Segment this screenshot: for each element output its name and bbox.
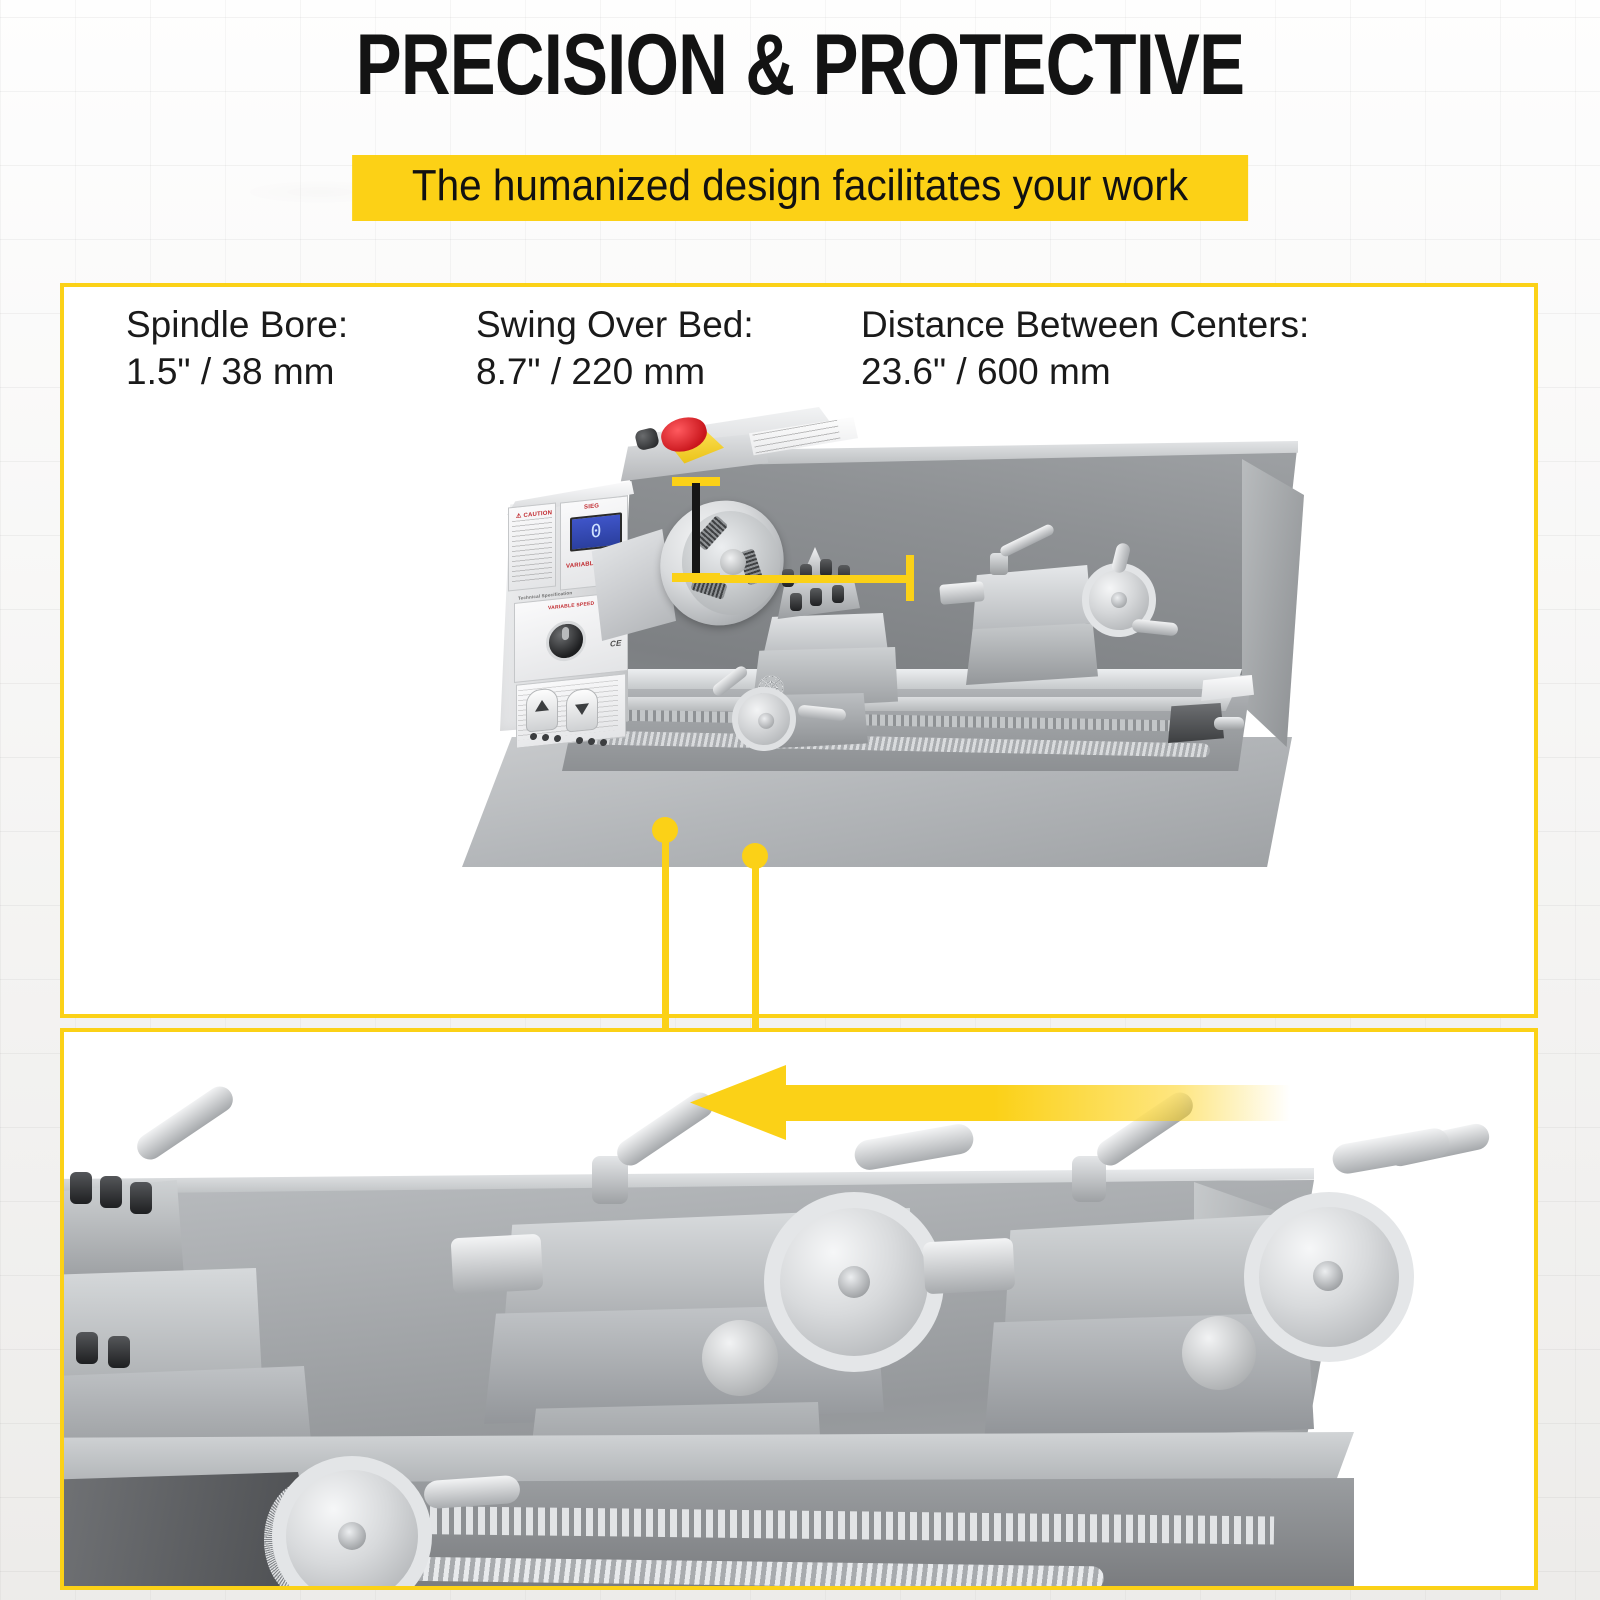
lathe-product-photo: ⚠ CAUTION SIEG 0 VARIABLE SPEED MINI LAT… (64, 287, 1534, 1014)
closeup-right-quill (923, 1238, 1016, 1295)
closeup-lever-base-right (1072, 1156, 1106, 1202)
swing-dimension-vertical-line (692, 483, 700, 581)
closeup-handwheel-center[interactable] (764, 1192, 944, 1372)
direction-arrow-icon (690, 1065, 1290, 1140)
closeup-lever-left[interactable] (132, 1081, 238, 1164)
centers-dimension-end-cap (906, 555, 914, 601)
closeup-lock-knob-center[interactable] (702, 1320, 778, 1396)
arrow-tail (780, 1085, 1290, 1121)
closeup-center-quill (451, 1234, 544, 1295)
annotation-overlay: Automatic Power-off Cover Ultra-precise … (64, 287, 1534, 1014)
subtitle-banner: The humanized design facilitates your wo… (352, 155, 1248, 221)
carriage-bolt (108, 1336, 130, 1368)
tool-bolt (70, 1172, 92, 1204)
closeup-handwheel-right-handle[interactable] (1330, 1126, 1451, 1176)
subtitle-text: The humanized design facilitates your wo… (412, 164, 1188, 208)
closeup-lock-knob-right[interactable] (1182, 1316, 1256, 1390)
arrow-head (690, 1065, 786, 1140)
centers-dimension-line (692, 575, 914, 583)
tool-bolt (130, 1182, 152, 1214)
tool-bolt (100, 1176, 122, 1208)
top-feature-panel: Spindle Bore: 1.5" / 38 mm Swing Over Be… (60, 283, 1538, 1018)
carriage-bolt (76, 1332, 98, 1364)
closeup-handwheel-right[interactable] (1244, 1192, 1414, 1362)
page-title: PRECISION & PROTECTIVE (160, 22, 1440, 108)
